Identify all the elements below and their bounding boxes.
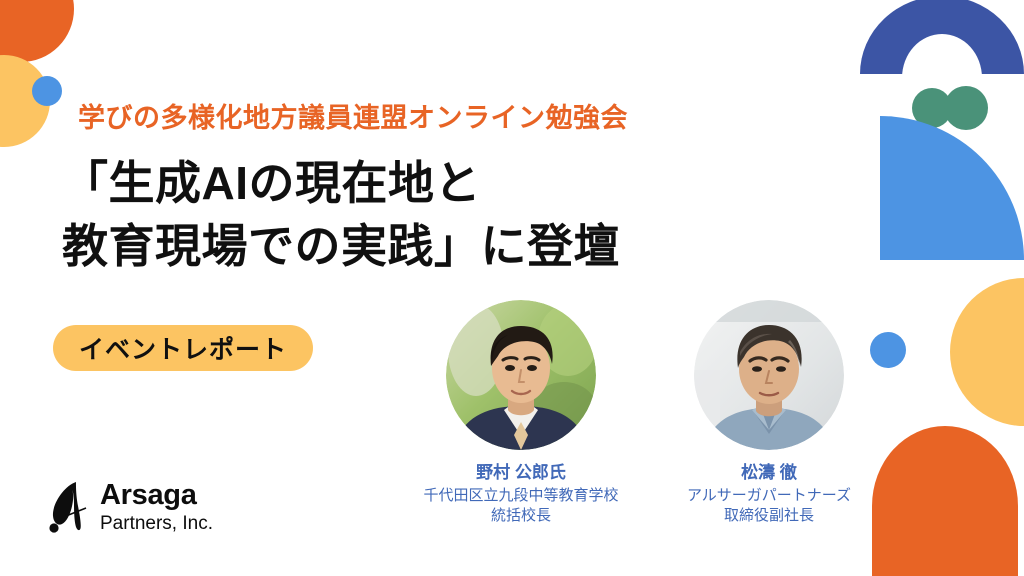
top-left-orange-circle: [0, 0, 74, 62]
arsaga-logo-name: Arsaga: [100, 481, 213, 510]
arsaga-a-mark-icon: [46, 478, 90, 536]
speaker-name: 松濤 徹: [669, 458, 869, 483]
speaker-photo-matsunami: [694, 300, 844, 450]
speaker-name: 野村 公郎氏: [421, 458, 621, 483]
event-eyebrow-title: 学びの多様化地方議員連盟オンライン勉強会: [78, 96, 628, 135]
speaker-card-1: 野村 公郎氏 千代田区立九段中等教育学校 統括校長: [421, 300, 621, 527]
arsaga-logo-suffix: Partners, Inc.: [100, 514, 213, 533]
status-badge: イベントレポート: [53, 325, 313, 371]
green-circle-right: [944, 86, 988, 130]
speaker-card-2: 松濤 徹 アルサーガパートナーズ 取締役副社長: [669, 300, 869, 527]
event-report-slide: 学びの多様化地方議員連盟オンライン勉強会 「生成AIの現在地と 教育現場での実践…: [0, 0, 1024, 576]
amber-half-circle: [950, 278, 1024, 426]
speaker-role: 取締役副社長: [669, 506, 869, 526]
speaker-organization: 千代田区立九段中等教育学校: [421, 486, 621, 506]
light-blue-quarter-circle: [880, 116, 1024, 260]
arsaga-logo-text: Arsaga Partners, Inc.: [100, 481, 213, 533]
speaker-photo-nomura: [446, 300, 596, 450]
page-title: 「生成AIの現在地と 教育現場での実践」に登壇: [62, 152, 620, 279]
speaker-organization: アルサーガパートナーズ: [669, 486, 869, 506]
top-left-blue-dot: [32, 76, 62, 106]
speaker-role: 統括校長: [421, 506, 621, 526]
status-badge-label: イベントレポート: [79, 330, 287, 366]
arsaga-logo: Arsaga Partners, Inc.: [46, 478, 213, 536]
speaker-list: 野村 公郎氏 千代田区立九段中等教育学校 統括校長: [390, 300, 900, 527]
